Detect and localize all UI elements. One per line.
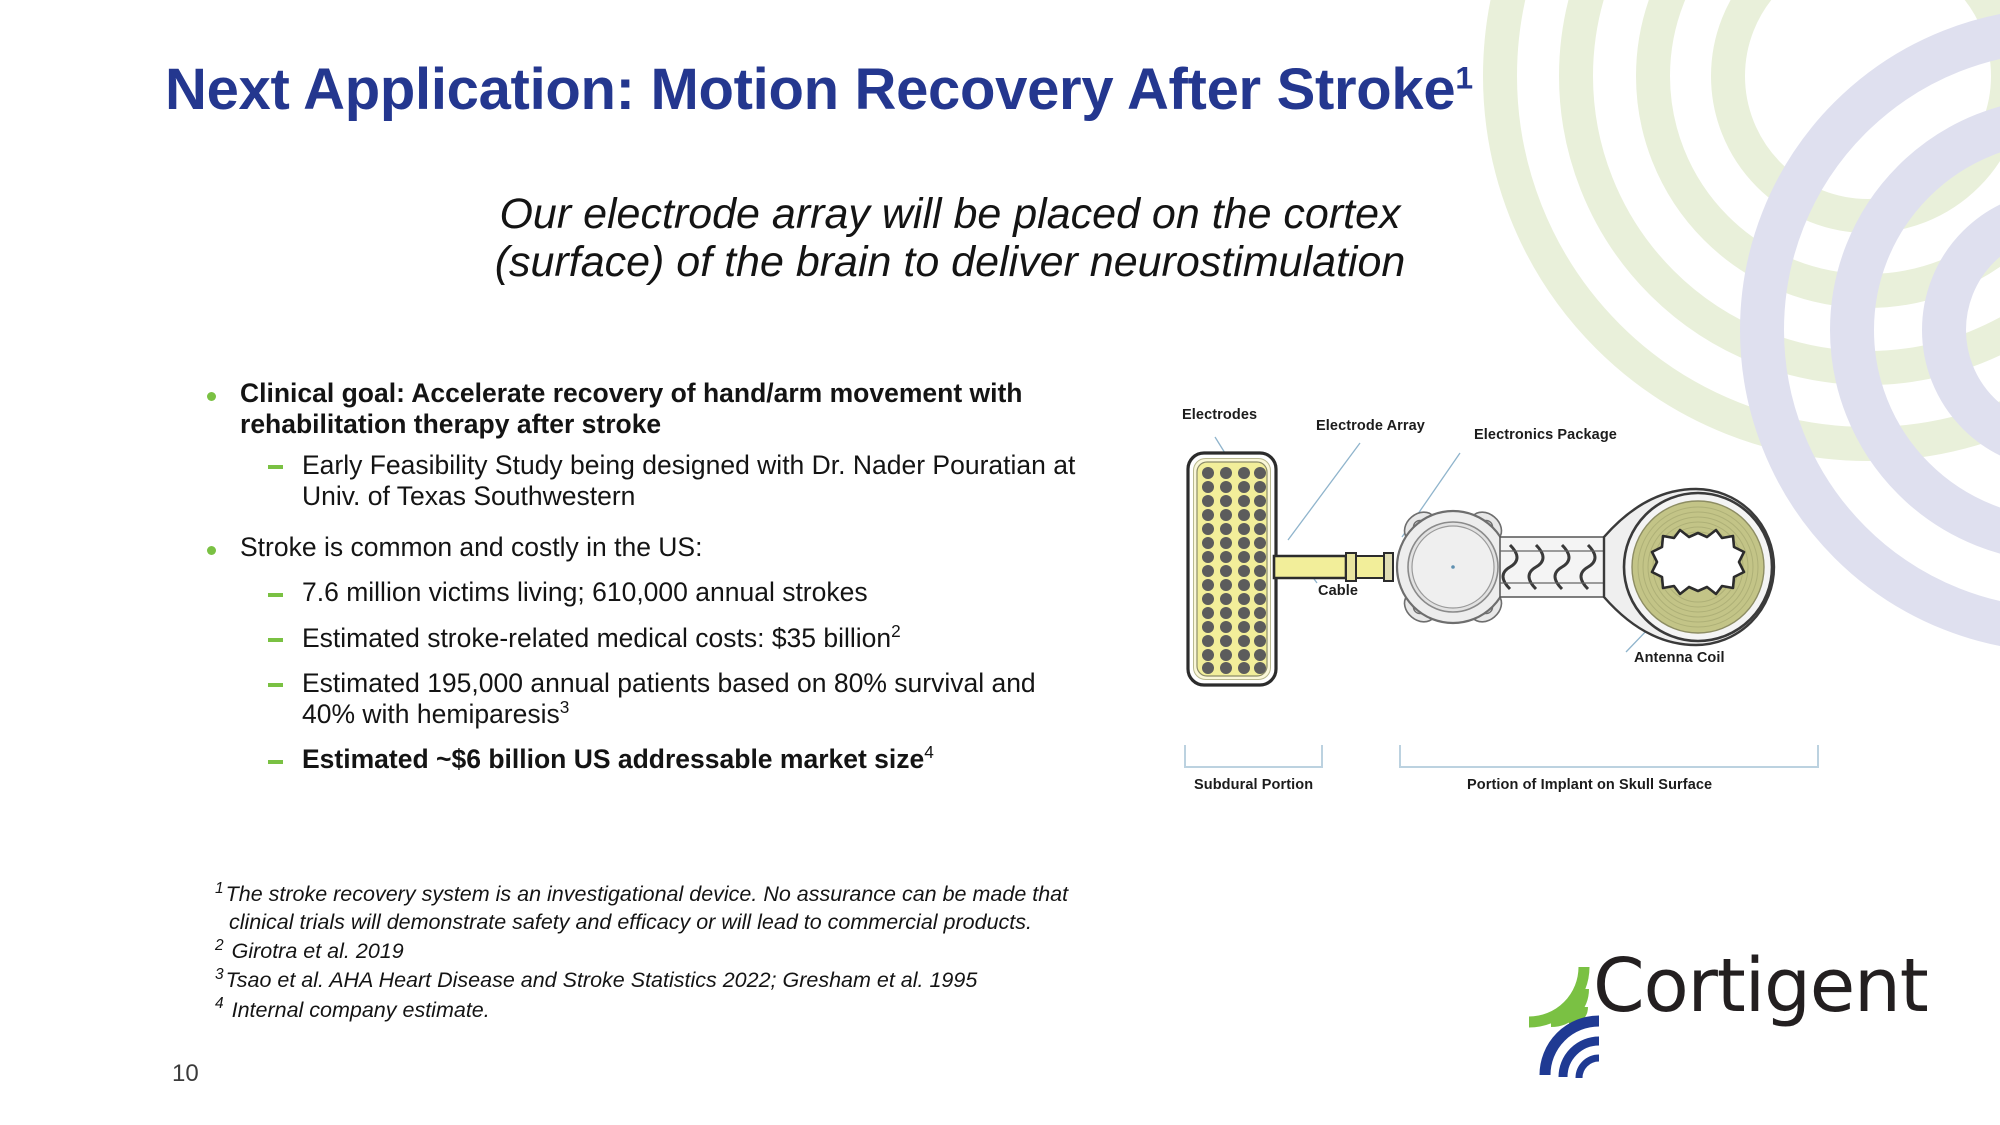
- footnote-text: Girotra et al. 2019: [232, 939, 404, 963]
- page-title-text: Next Application: Motion Recovery After …: [165, 57, 1455, 122]
- page-title: Next Application: Motion Recovery After …: [165, 60, 1925, 121]
- bullet-stroke-common-costly: Stroke is common and costly in the US:: [190, 532, 1090, 563]
- bullet-text: 7.6 million victims living; 610,000 annu…: [302, 577, 868, 607]
- bullet-dot-icon: [207, 546, 216, 555]
- cable: [1274, 553, 1393, 581]
- bullet-dash-icon: [268, 593, 283, 597]
- bullet-dash-icon: [268, 638, 283, 642]
- bullet-victims-living: 7.6 million victims living; 610,000 annu…: [190, 577, 1090, 608]
- page-number: 10: [172, 1060, 199, 1088]
- page-title-footnote-marker: 1: [1455, 60, 1472, 96]
- footnote-number: 3: [215, 966, 224, 983]
- bullet-addressable-market: Estimated ~$6 billion US addressable mar…: [190, 744, 1090, 775]
- footnote-list: 1The stroke recovery system is an invest…: [215, 880, 1465, 1025]
- implant-diagram-svg: [1170, 415, 1830, 835]
- footnote-number: 4: [215, 995, 224, 1012]
- bullet-clinical-goal: Clinical goal: Accelerate recovery of ha…: [190, 378, 1090, 441]
- cortigent-logo: Cortigent: [1505, 935, 1955, 1080]
- label-electronics-package: Electronics Package: [1474, 427, 1617, 443]
- label-subdural-portion: Subdural Portion: [1194, 777, 1313, 793]
- label-electrodes: Electrodes: [1182, 407, 1257, 423]
- bullet-text: Estimated stroke-related medical costs: …: [302, 623, 891, 653]
- bullet-dot-icon: [207, 392, 216, 401]
- bullet-text: Stroke is common and costly in the US:: [240, 532, 702, 562]
- label-antenna-coil: Antenna Coil: [1634, 650, 1725, 666]
- footnote-text: Tsao et al. AHA Heart Disease and Stroke…: [226, 968, 978, 992]
- footnote-2: 2 Girotra et al. 2019: [215, 937, 1465, 965]
- bullet-dash-icon: [268, 760, 283, 764]
- antenna-coil: [1604, 489, 1774, 645]
- bullet-text: Estimated ~$6 billion US addressable mar…: [302, 744, 924, 774]
- bullet-footnote-marker: 4: [924, 743, 934, 763]
- electrode-array-paddle: [1188, 453, 1276, 685]
- electronics-package: [1397, 506, 1509, 628]
- footnote-3: 3Tsao et al. AHA Heart Disease and Strok…: [215, 966, 1465, 994]
- bullet-annual-patients: Estimated 195,000 annual patients based …: [190, 668, 1090, 731]
- footnote-text-continued: clinical trials will demonstrate safety …: [215, 908, 1465, 936]
- bullet-medical-costs: Estimated stroke-related medical costs: …: [190, 623, 1090, 654]
- footnote-4: 4 Internal company estimate.: [215, 996, 1465, 1024]
- logo-green-arcs: [1529, 967, 1584, 1022]
- footnote-text: Internal company estimate.: [232, 998, 490, 1022]
- bullet-early-feasibility-study: Early Feasibility Study being designed w…: [190, 450, 1090, 513]
- footnote-number: 2: [215, 937, 224, 954]
- bullet-footnote-marker: 2: [891, 621, 901, 641]
- bullet-text: Early Feasibility Study being designed w…: [302, 450, 1075, 511]
- bullet-dash-icon: [268, 683, 283, 687]
- implant-device-diagram: Electrodes Electrode Array Electronics P…: [1170, 415, 1830, 835]
- bullet-text: Clinical goal: Accelerate recovery of ha…: [240, 378, 1023, 439]
- logo-blue-arcs: [1545, 1021, 1599, 1078]
- label-cable: Cable: [1318, 583, 1358, 599]
- bullet-dash-icon: [268, 465, 283, 469]
- footnote-1: 1The stroke recovery system is an invest…: [215, 880, 1465, 936]
- label-skull-surface-portion: Portion of Implant on Skull Surface: [1467, 777, 1712, 793]
- logo-wordmark: Cortigent: [1593, 943, 1928, 1029]
- subtitle-line-1: Our electrode array will be placed on th…: [300, 190, 1600, 238]
- label-electrode-array: Electrode Array: [1316, 418, 1425, 434]
- bullet-text: Estimated 195,000 annual patients based …: [302, 668, 1036, 729]
- slide-canvas: Next Application: Motion Recovery After …: [0, 0, 2000, 1125]
- flex-bellows: [1500, 537, 1618, 597]
- bullet-list: Clinical goal: Accelerate recovery of ha…: [190, 378, 1090, 785]
- section-brackets: [1185, 745, 1818, 767]
- footnote-text: The stroke recovery system is an investi…: [226, 882, 1069, 906]
- bullet-footnote-marker: 3: [560, 697, 570, 717]
- footnote-number: 1: [215, 880, 224, 897]
- subtitle-line-2: (surface) of the brain to deliver neuros…: [300, 238, 1600, 286]
- subtitle: Our electrode array will be placed on th…: [300, 190, 1600, 286]
